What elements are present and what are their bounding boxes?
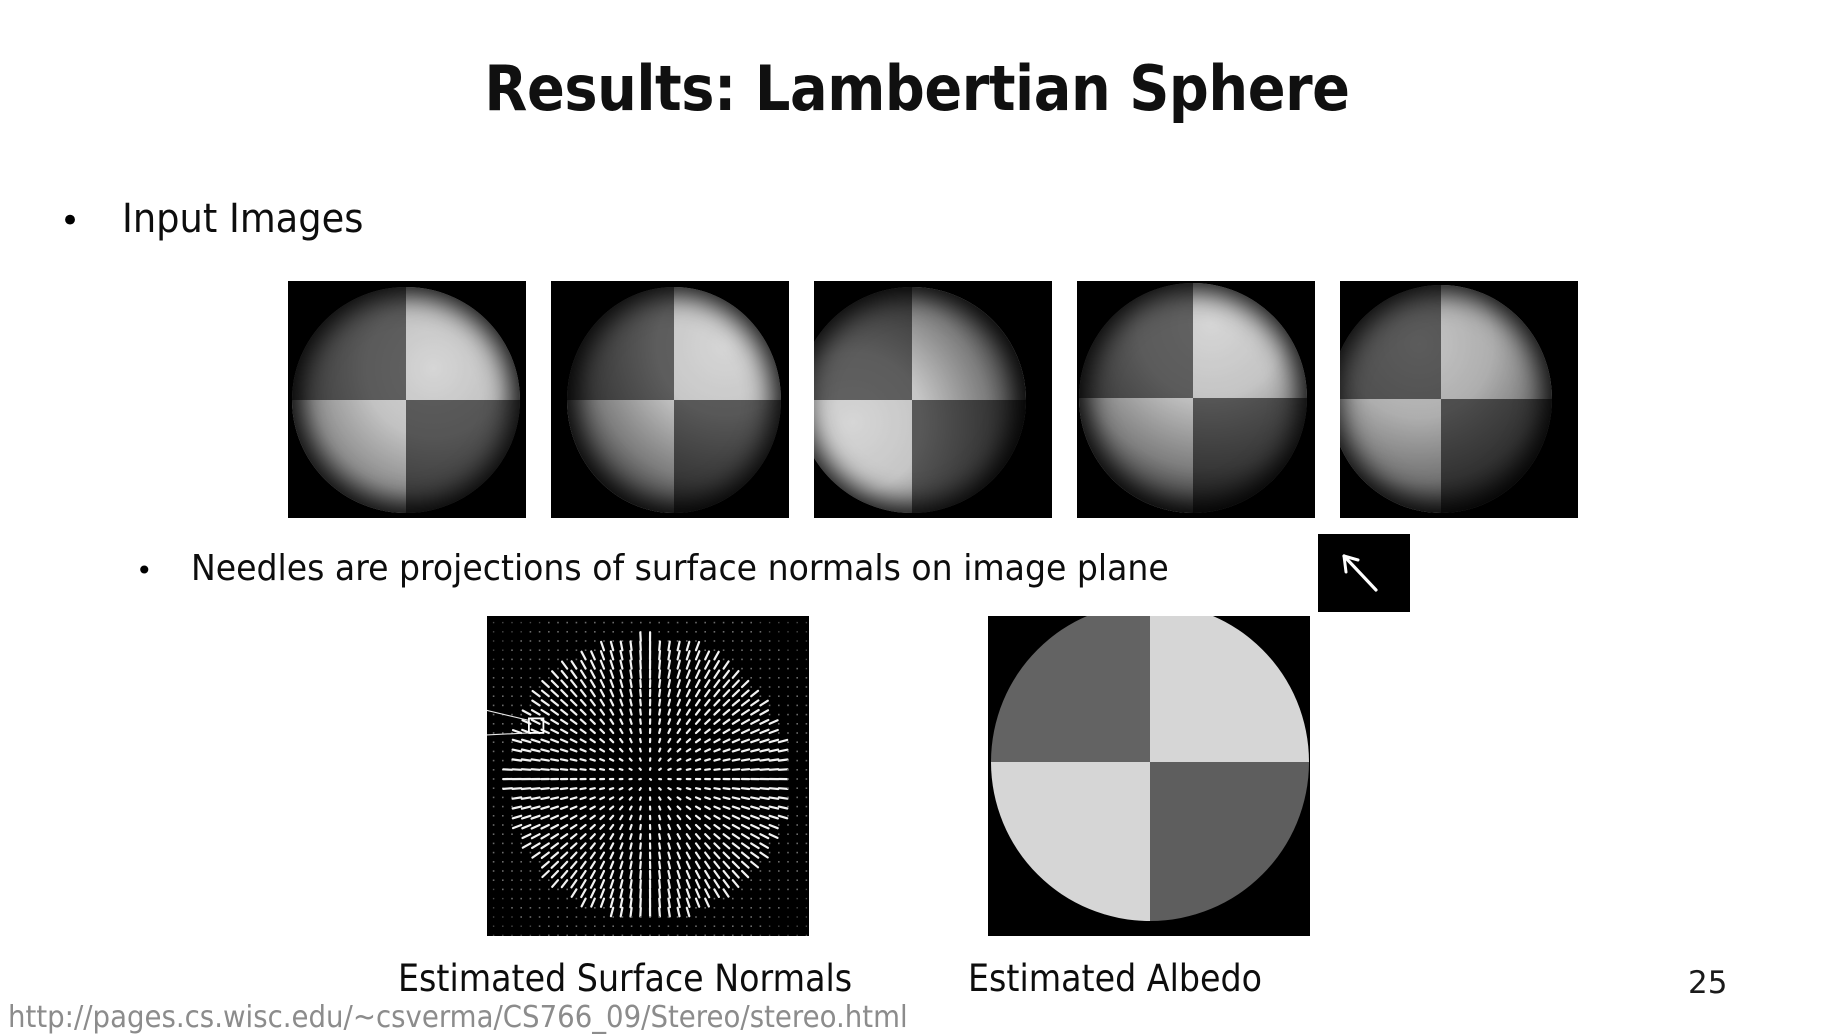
estimated-albedo-image — [988, 616, 1310, 936]
page-title: Results: Lambertian Sphere — [92, 58, 1743, 120]
sphere-shading — [292, 287, 520, 513]
albedo-quadrant-bottom-right — [1150, 762, 1309, 921]
caption-estimated-albedo: Estimated Albedo — [968, 957, 1262, 1000]
albedo-quadrant-top-right — [1150, 616, 1309, 762]
albedo-quadrant-top-left — [991, 616, 1150, 762]
zoomed-needle-box — [1318, 534, 1410, 612]
estimated-surface-normals-image — [487, 616, 809, 936]
bullet-marker-icon: • — [60, 204, 80, 238]
bullet-marker-icon: • — [136, 557, 153, 585]
sphere-disc — [1340, 285, 1552, 513]
input-image-1 — [288, 281, 526, 518]
sphere-shading — [567, 287, 781, 513]
albedo-quadrant-bottom-left — [991, 762, 1150, 921]
input-images-strip — [288, 281, 1578, 518]
sphere-disc — [292, 287, 520, 513]
sphere-shading — [1340, 285, 1552, 513]
bullet-needles: • Needles are projections of surface nor… — [136, 548, 1253, 589]
sphere-disc — [1079, 283, 1307, 513]
input-image-4 — [1077, 281, 1315, 518]
input-image-5 — [1340, 281, 1578, 518]
bullet-needles-label: Needles are projections of surface norma… — [191, 548, 1169, 589]
albedo-disc — [991, 616, 1309, 921]
page-number: 25 — [1688, 965, 1727, 1001]
input-image-2 — [551, 281, 789, 518]
sphere-disc — [567, 287, 781, 513]
caption-estimated-surface-normals: Estimated Surface Normals — [398, 957, 852, 1000]
bullet-input-images-label: Input Images — [122, 196, 363, 242]
bullet-input-images: • Input Images — [60, 196, 384, 242]
needle-quiver-plot — [487, 616, 809, 936]
sphere-disc — [814, 287, 1026, 513]
sphere-shading — [1079, 283, 1307, 513]
needle-arrow-icon — [1318, 534, 1410, 612]
input-image-3 — [814, 281, 1052, 518]
